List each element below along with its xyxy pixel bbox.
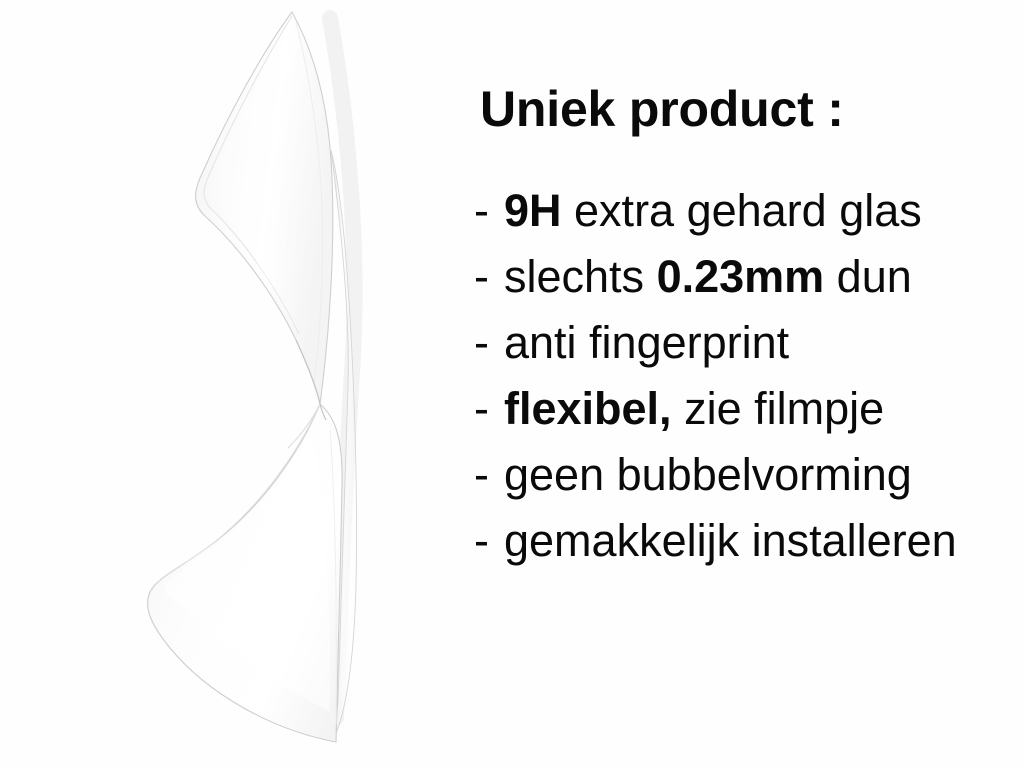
glass-upper-lobe: [196, 12, 333, 404]
feature-emphasis: flexibel,: [504, 383, 672, 434]
list-item: -gemakkelijk installeren: [474, 508, 1024, 574]
glass-lower-lobe: [148, 404, 342, 742]
bullet-dash: -: [474, 310, 504, 376]
bullet-dash: -: [474, 508, 504, 574]
product-image: [0, 0, 450, 768]
list-item: -slechts 0.23mm dun: [474, 244, 1024, 310]
feature-text-pre: geen bubbelvorming: [504, 449, 912, 500]
feature-text: dun: [824, 251, 912, 302]
list-item: -geen bubbelvorming: [474, 442, 1024, 508]
feature-text: extra gehard glas: [562, 185, 922, 236]
feature-emphasis: 0.23mm: [657, 251, 825, 302]
feature-emphasis: 9H: [504, 185, 562, 236]
product-banner: Uniek product : -9H extra gehard glas -s…: [0, 0, 1024, 768]
bullet-dash: -: [474, 244, 504, 310]
feature-list: -9H extra gehard glas -slechts 0.23mm du…: [474, 178, 1024, 574]
bullet-dash: -: [474, 376, 504, 442]
list-item: -anti fingerprint: [474, 310, 1024, 376]
feature-text-pre: anti fingerprint: [504, 317, 789, 368]
feature-text-pre: gemakkelijk installeren: [504, 515, 957, 566]
list-item: -flexibel, zie filmpje: [474, 376, 1024, 442]
feature-text: zie filmpje: [672, 383, 885, 434]
bullet-dash: -: [474, 178, 504, 244]
copy-column: Uniek product : -9H extra gehard glas -s…: [474, 0, 1024, 768]
bullet-dash: -: [474, 442, 504, 508]
list-item: -9H extra gehard glas: [474, 178, 1024, 244]
page-title: Uniek product :: [480, 82, 844, 137]
feature-text-pre: slechts: [504, 251, 657, 302]
